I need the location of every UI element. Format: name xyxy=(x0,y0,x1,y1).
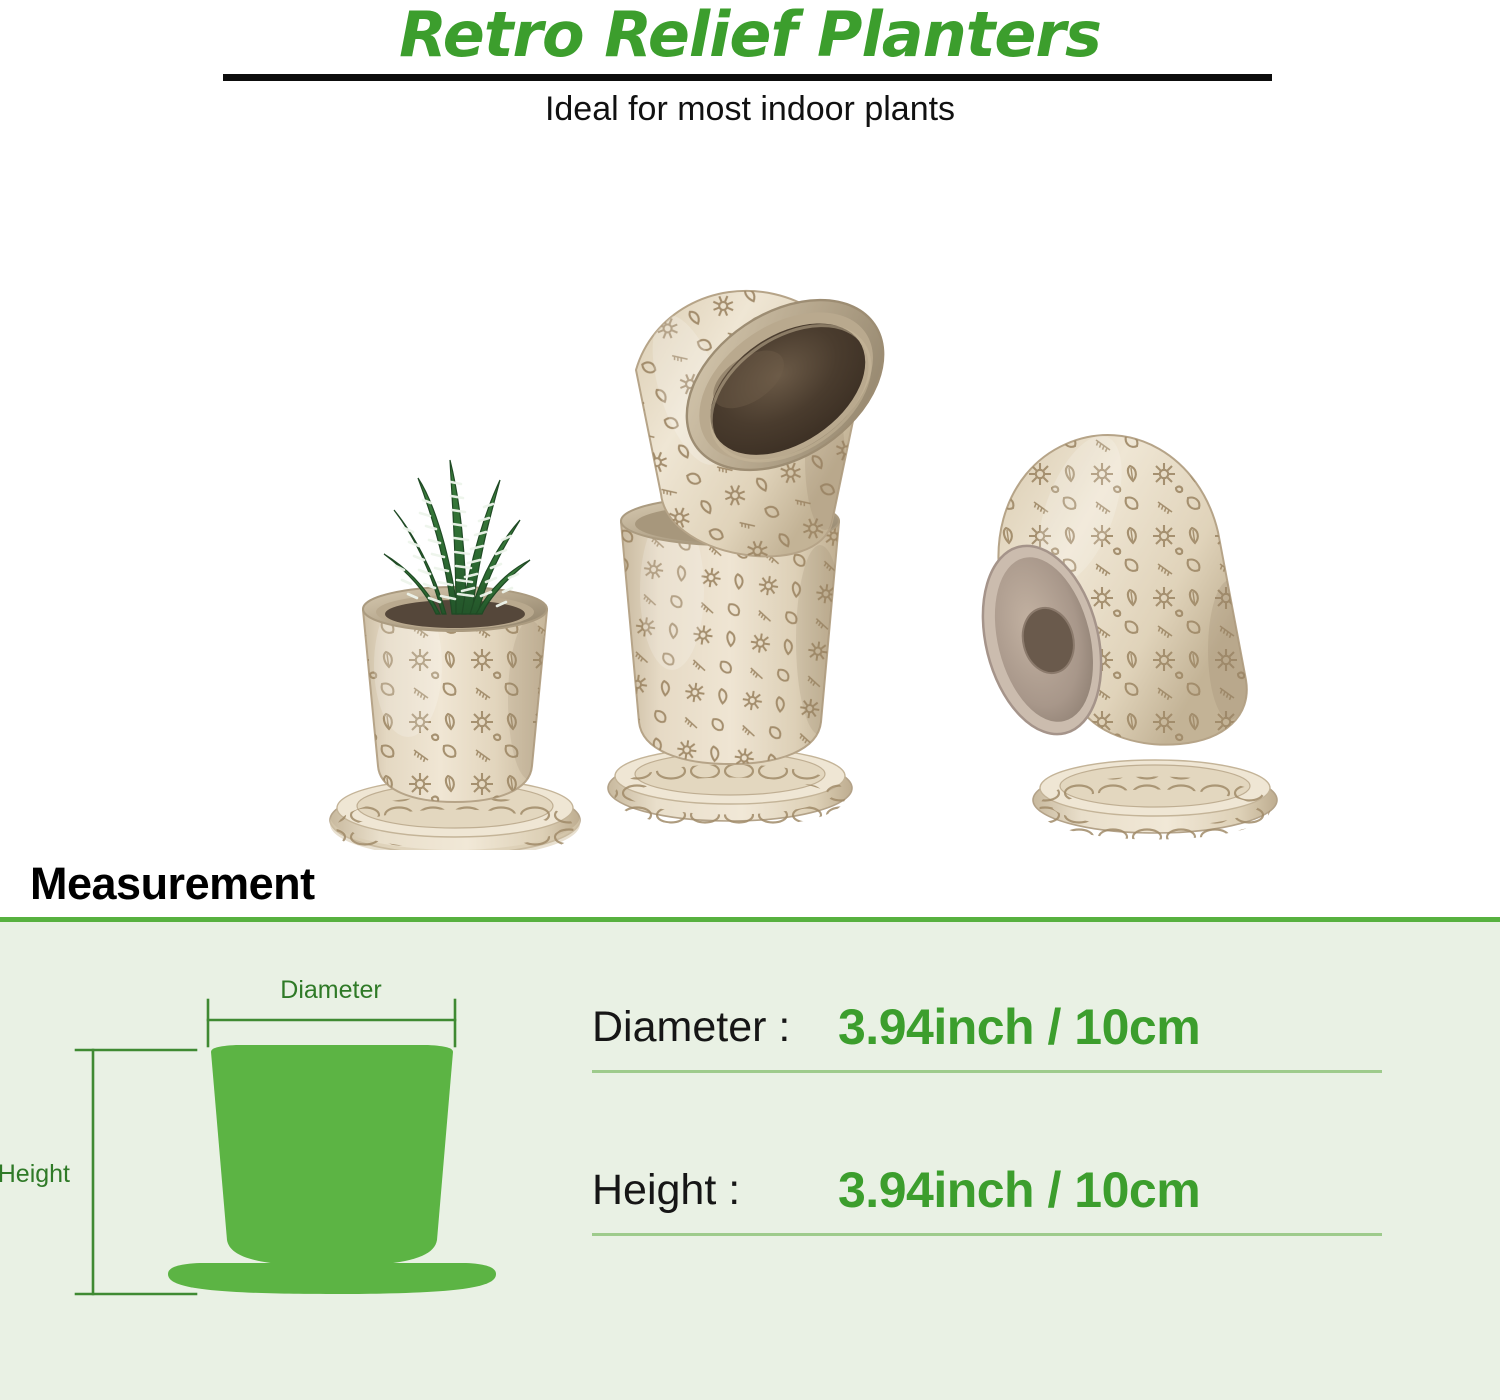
diameter-diagram-label: Diameter xyxy=(280,976,381,1004)
title-divider xyxy=(223,74,1272,81)
product-listing-page: Retro Relief Planters Ideal for most ind… xyxy=(0,0,1500,1400)
spec-row-height: Height : 3.94inch / 10cm xyxy=(592,1147,1382,1236)
header: Retro Relief Planters Ideal for most ind… xyxy=(0,0,1500,140)
product-photo xyxy=(0,150,1500,850)
spec-value-diameter: 3.94inch / 10cm xyxy=(838,998,1200,1056)
height-diagram-label: Height xyxy=(0,1160,70,1188)
spec-list: Diameter : 3.94inch / 10cm Height : 3.94… xyxy=(592,984,1382,1236)
measurement-diagram: Diameter Height xyxy=(0,922,560,1400)
page-title: Retro Relief Planters xyxy=(0,2,1500,67)
measurement-heading: Measurement xyxy=(30,858,315,910)
spec-value-height: 3.94inch / 10cm xyxy=(838,1161,1200,1219)
pot-silhouette xyxy=(168,1045,496,1294)
spec-label-diameter: Diameter : xyxy=(592,1003,824,1052)
measurement-panel: Diameter Height Diameter : 3.94inch / 10… xyxy=(0,917,1500,1400)
spec-label-height: Height : xyxy=(592,1166,824,1215)
saucer-d xyxy=(1033,760,1277,833)
page-subtitle: Ideal for most indoor plants xyxy=(0,90,1500,129)
spec-row-diameter: Diameter : 3.94inch / 10cm xyxy=(592,984,1382,1073)
